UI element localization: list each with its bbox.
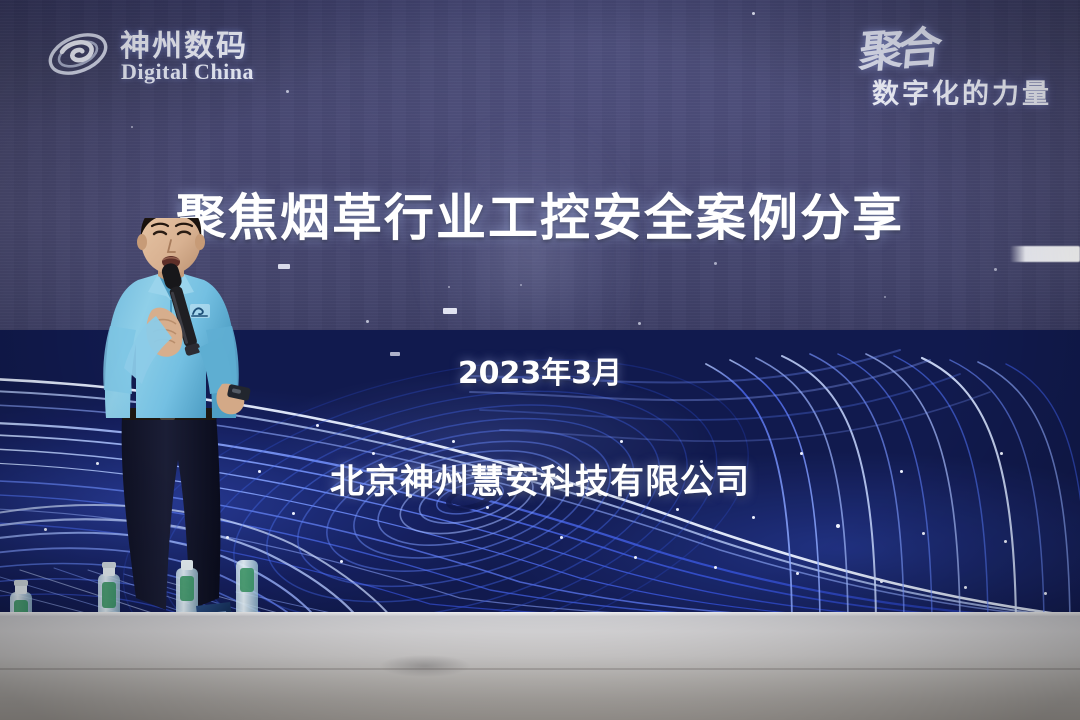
event-slogan: 聚合 数字化的力量 [754,14,1054,114]
slogan-subtitle: 数字化的力量 [872,72,1052,111]
conference-stage-photo: 神州数码 Digital China 聚合 数字化的力量 聚焦烟草行业工控安全案… [0,0,1080,720]
water-bottle [236,560,258,618]
slogan-calligraphy: 聚合 [857,11,939,80]
digital-china-logo: 神州数码 Digital China [46,18,296,90]
presenter [86,218,276,618]
presenter-chest-logo [190,304,210,318]
stage-floor-scuff [380,655,470,677]
stage-floor-edge [0,612,1080,617]
stage-floor-seam [0,668,1080,670]
logo-english-name: Digital China [121,59,254,85]
stage-floor [0,612,1080,720]
digital-china-swirl-icon [46,22,110,86]
